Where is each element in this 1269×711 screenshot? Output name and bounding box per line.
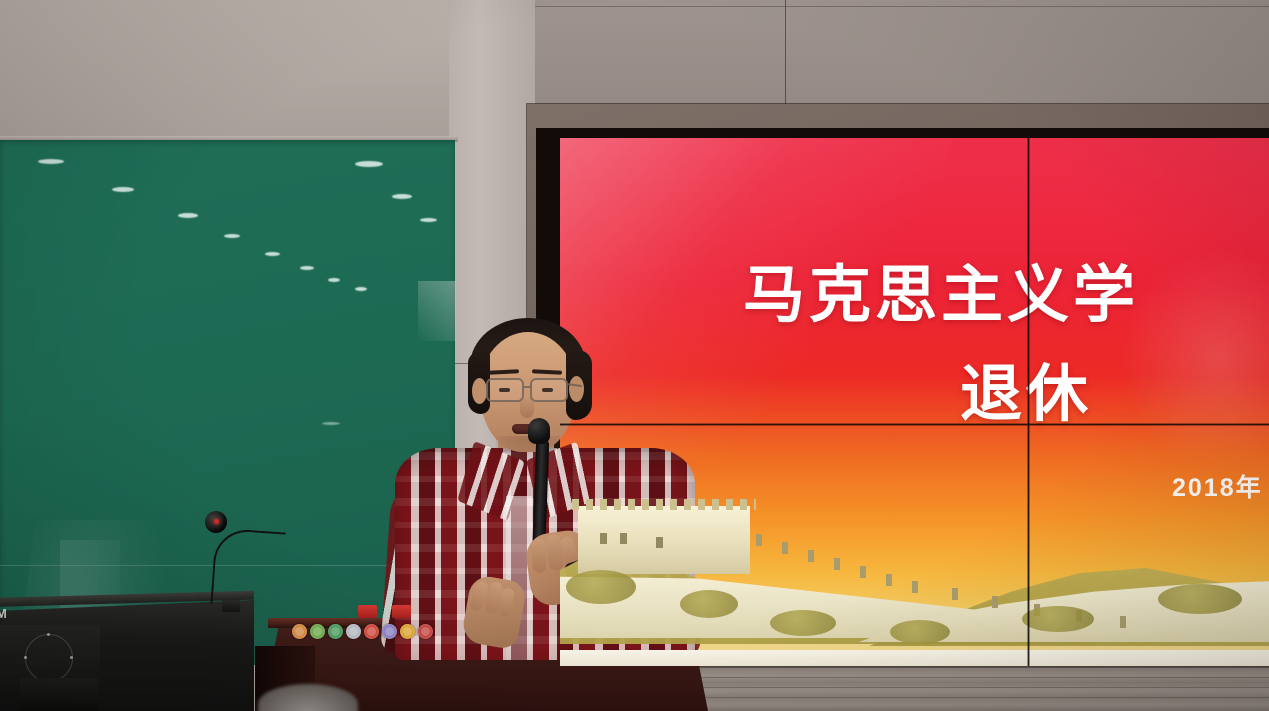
wall-seam-horizontal: [520, 6, 1269, 7]
great-wall-foliage: [1158, 584, 1242, 614]
lectern-badge[interactable]: [382, 624, 397, 639]
great-wall-tower-window: [600, 533, 607, 544]
ceiling-light-glare: [38, 159, 64, 164]
great-wall-foliage: [890, 620, 950, 644]
ceiling-light-glare: [355, 161, 383, 167]
ceiling-light-glare: [265, 252, 280, 256]
great-wall-graphic: [560, 476, 1269, 666]
led-panel-bezel-horizontal: [560, 423, 1269, 426]
upper-wall-right-section: [520, 0, 1269, 120]
slide-title-line-1: 马克思主义学: [743, 263, 1139, 330]
ceiling-light-glare: [392, 194, 412, 199]
presenter-ear-right: [569, 376, 584, 402]
ledge-groove: [640, 687, 1269, 688]
slide-bottom-strip: [560, 650, 1269, 666]
dial-tick: [70, 656, 73, 659]
great-wall-crenellation: [1120, 616, 1126, 628]
lectern-badge-row: [292, 624, 433, 639]
great-wall-crenellation: [782, 542, 788, 554]
dial-tick: [24, 656, 27, 659]
red-marker-block[interactable]: [358, 605, 377, 618]
microphone-status-led: [214, 519, 219, 524]
ledge-groove: [640, 697, 1269, 698]
wall-seam-vertical: [785, 0, 786, 112]
ceiling-light-glare: [224, 234, 240, 238]
presenter-finger: [531, 538, 546, 572]
great-wall-crenellation: [886, 574, 892, 586]
dial-tick: [47, 633, 50, 636]
great-wall-tower-window: [656, 537, 663, 548]
presenter-ear-left: [472, 378, 487, 404]
slide-title-line-2: 退休: [960, 343, 1092, 433]
glasses-bridge: [523, 386, 532, 388]
great-wall-foliage: [566, 570, 636, 604]
ceiling-light-glare: [355, 287, 367, 291]
glasses-lens-right: [530, 378, 568, 402]
lectern-badge[interactable]: [328, 624, 343, 639]
lectern-badge[interactable]: [346, 624, 361, 639]
ceiling-light-glare: [178, 213, 198, 218]
presenter-finger: [499, 587, 514, 616]
sound-desk-label: M: [0, 606, 8, 621]
lectern-badge[interactable]: [292, 624, 307, 639]
red-marker-block[interactable]: [392, 605, 411, 618]
great-wall-crenellation: [834, 558, 840, 570]
presenter-nose: [520, 396, 534, 418]
screen-glare-secondary: [1120, 248, 1269, 468]
upper-wall-left-section: [0, 0, 460, 148]
ceiling-light-glare: [112, 187, 134, 192]
great-wall-crenellation: [912, 581, 918, 593]
ceiling-light-glare: [300, 266, 314, 270]
sound-desk-lower-box: [20, 678, 98, 711]
gooseneck-microphone-stem: [210, 528, 285, 609]
glasses-lens-left: [486, 378, 524, 402]
led-panel-bezel-vertical: [1027, 138, 1030, 666]
great-wall-tower-battlement: [572, 499, 756, 510]
ledge-groove: [640, 677, 1269, 678]
ceiling-light-glare: [420, 218, 437, 222]
ceiling-light-glare: [328, 278, 340, 282]
lectern-badge[interactable]: [364, 624, 379, 639]
great-wall-foliage: [770, 610, 836, 636]
sound-desk-dial[interactable]: [25, 634, 73, 682]
ceiling-light-glare: [322, 422, 340, 425]
lectern-badge[interactable]: [310, 624, 325, 639]
concrete-ledge: [640, 668, 1269, 711]
great-wall-crenellation: [952, 588, 958, 600]
lecture-hall-photo: 马克思主义学 退休 2018年: [0, 0, 1269, 711]
great-wall-crenellation: [860, 566, 866, 578]
handheld-microphone-head[interactable]: [528, 418, 550, 444]
slide-date-text: 2018年: [1172, 468, 1263, 504]
great-wall-foliage: [1022, 606, 1094, 632]
great-wall-crenellation: [992, 596, 998, 608]
great-wall-crenellation: [756, 534, 762, 546]
great-wall-foliage: [680, 590, 738, 618]
gooseneck-microphone-base: [222, 600, 240, 612]
great-wall-crenellation: [808, 550, 814, 562]
lectern-badge[interactable]: [418, 624, 433, 639]
great-wall-tower-window: [620, 533, 627, 544]
lectern-badge[interactable]: [400, 624, 415, 639]
